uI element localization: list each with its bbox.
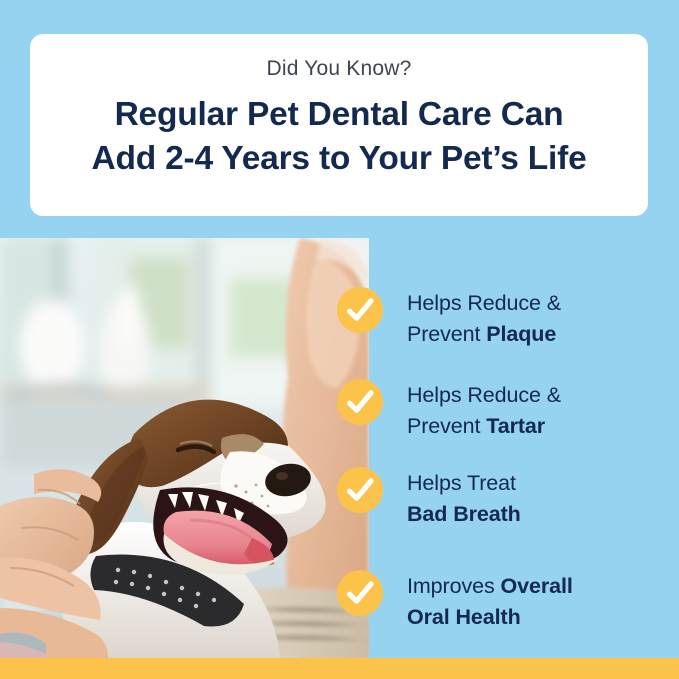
benefits-list: Helps Reduce & Prevent Plaque Helps Redu… bbox=[337, 238, 679, 658]
bottom-accent-bar bbox=[0, 658, 679, 679]
benefit-line-2: Bad Breath bbox=[407, 499, 521, 530]
check-circle-icon bbox=[337, 467, 383, 513]
benefit-line-1: Helps Reduce & bbox=[407, 380, 561, 411]
list-item: Helps Treat Bad Breath bbox=[337, 467, 679, 529]
list-item-label: Improves Overall Oral Health bbox=[407, 570, 573, 632]
benefit-line-1: Helps Treat bbox=[407, 468, 521, 499]
benefit-line-1-plain: Improves bbox=[407, 574, 501, 598]
list-item: Helps Reduce & Prevent Plaque bbox=[337, 287, 679, 349]
page-title: Regular Pet Dental Care Can Add 2-4 Year… bbox=[48, 93, 630, 180]
headline-card: Did You Know? Regular Pet Dental Care Ca… bbox=[30, 34, 648, 216]
benefit-line-2-bold: Plaque bbox=[486, 322, 556, 346]
benefit-line-2: Prevent Plaque bbox=[407, 319, 561, 350]
list-item-label: Helps Reduce & Prevent Plaque bbox=[407, 287, 561, 349]
benefit-line-2: Prevent Tartar bbox=[407, 411, 561, 442]
check-circle-icon bbox=[337, 379, 383, 425]
benefit-line-2-plain: Prevent bbox=[407, 414, 486, 438]
eyebrow-text: Did You Know? bbox=[48, 56, 630, 81]
infographic-poster: Did You Know? Regular Pet Dental Care Ca… bbox=[0, 0, 679, 679]
benefit-line-2-bold: Oral Health bbox=[407, 605, 521, 629]
benefit-line-2-bold: Tartar bbox=[486, 414, 545, 438]
benefit-line-2-plain: Prevent bbox=[407, 322, 486, 346]
benefit-line-1: Helps Reduce & bbox=[407, 288, 561, 319]
headline-line-2: Add 2-4 Years to Your Pet’s Life bbox=[48, 137, 630, 181]
benefit-line-1: Improves Overall bbox=[407, 571, 573, 602]
check-circle-icon bbox=[337, 287, 383, 333]
headline-line-1: Regular Pet Dental Care Can bbox=[115, 96, 564, 133]
benefit-line-1-bold: Overall bbox=[501, 574, 573, 598]
check-circle-icon bbox=[337, 570, 383, 616]
list-item: Improves Overall Oral Health bbox=[337, 570, 679, 632]
list-item: Helps Reduce & Prevent Tartar bbox=[337, 379, 679, 441]
list-item-label: Helps Treat Bad Breath bbox=[407, 467, 521, 529]
list-item-label: Helps Reduce & Prevent Tartar bbox=[407, 379, 561, 441]
benefit-line-2: Oral Health bbox=[407, 602, 573, 633]
dog-photo bbox=[0, 238, 369, 658]
benefit-line-2-bold: Bad Breath bbox=[407, 502, 521, 526]
